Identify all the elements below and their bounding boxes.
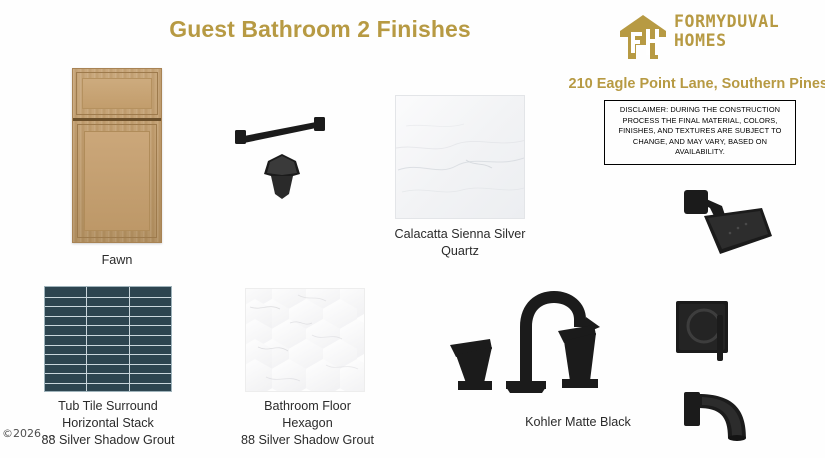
cabinet-divider [73,118,161,121]
logo-wordmark: FORMYDUVAL HOMES [674,14,825,49]
drawer-inset-panel [82,78,152,109]
quartz-slab-sample [395,95,525,219]
quartz-veining [396,96,525,219]
showerhead-icon [676,188,776,260]
floor-tile-label-line-1: Bathroom Floor [235,398,380,415]
quartz-label-line-2: Quartz [385,243,535,260]
logo-line-1: FORMYDUVAL [674,14,825,31]
cabinet-drawer-front [76,72,158,115]
cabinet-label: Fawn [52,252,182,269]
tub-tile-label-line-1: Tub Tile Surround [28,398,188,415]
copyright-watermark: ©2026 ... [2,427,55,440]
shower-valve-trim-icon [672,295,744,363]
floor-tile-label: Bathroom Floor Hexagon 88 Silver Shadow … [235,398,380,449]
page-title: Guest Bathroom 2 Finishes [0,16,640,43]
disclaimer-box: DISCLAIMER: DURING THE CONSTRUCTION PROC… [604,100,796,165]
brand-logo: FH FORMYDUVAL HOMES [620,10,825,62]
tub-tile-label: Tub Tile Surround Horizontal Stack 88 Si… [28,398,188,449]
door-inset-panel [84,131,150,231]
quartz-label-line-1: Calacatta Sienna Silver [385,226,535,243]
fh-house-monogram-icon: FH [620,15,666,59]
tub-spout-icon [680,388,784,450]
cabinet-door-frame [77,124,157,238]
hexagon-tile-sample [245,288,365,392]
project-address: 210 Eagle Point Lane, Southern Pines [548,76,825,92]
logo-line-2: HOMES [674,33,825,50]
cabinet-bar-pull-icon [232,117,328,149]
hex-marble-veining [246,289,365,392]
plumbing-label: Kohler Matte Black [478,414,678,431]
floor-tile-label-line-2: Hexagon [235,415,380,432]
finishes-board: Guest Bathroom 2 Finishes FH FORMYDUVAL … [0,0,825,458]
cabinet-door-sample [72,68,162,243]
disclaimer-text: DISCLAIMER: DURING THE CONSTRUCTION PROC… [610,105,790,158]
quartz-label: Calacatta Sienna Silver Quartz [385,226,535,260]
widespread-lavatory-faucet-icon [436,283,608,395]
floor-tile-label-line-3: 88 Silver Shadow Grout [235,432,380,449]
cabinet-knob-icon [258,152,306,200]
tub-tile-sample [44,286,172,392]
